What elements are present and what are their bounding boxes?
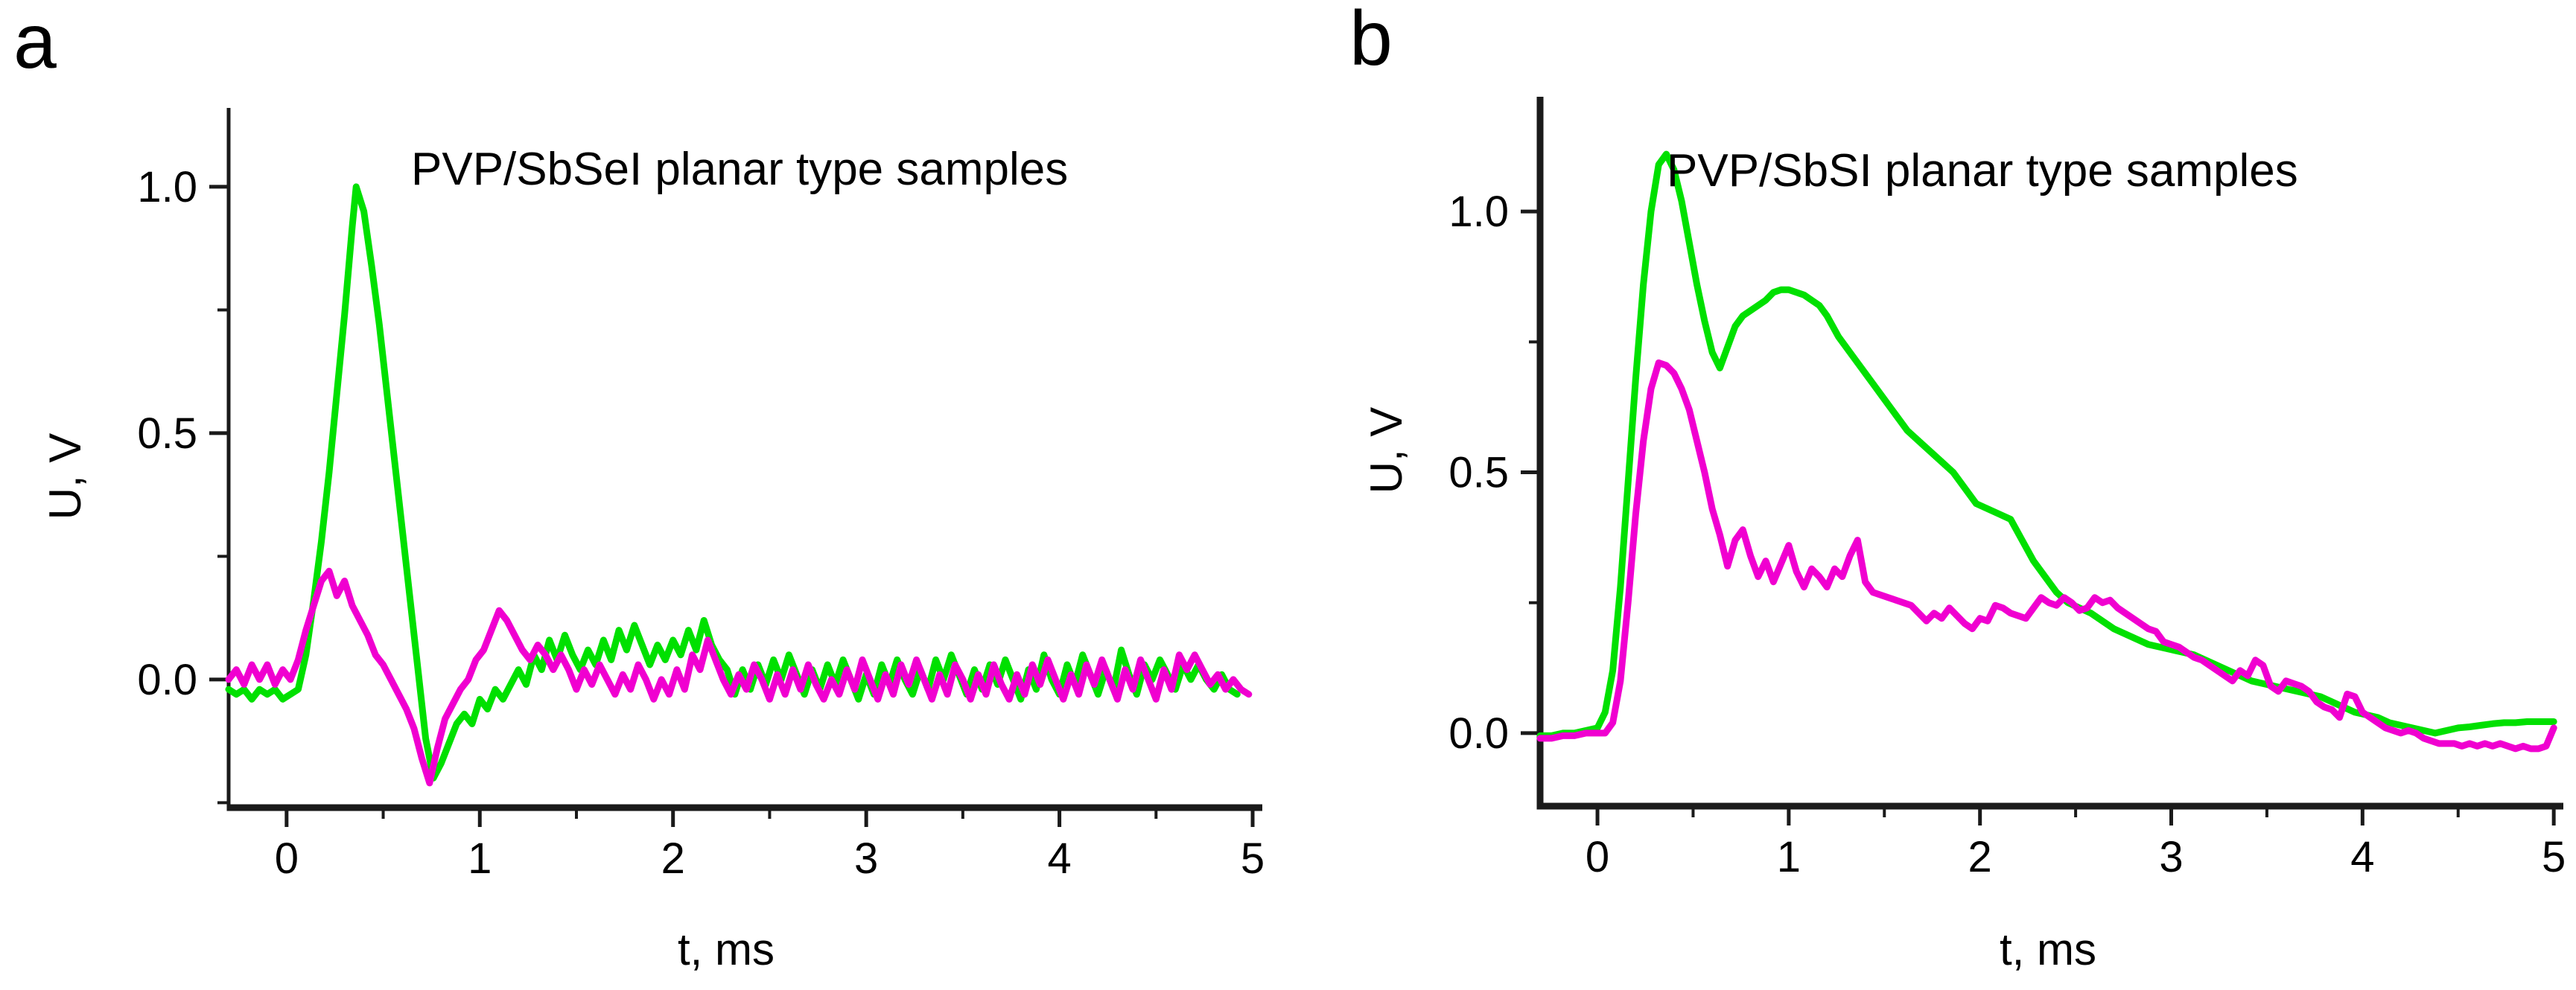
series-line-magenta: [1540, 363, 2554, 749]
x-tick-label: 3: [854, 834, 878, 883]
x-tick-label: 4: [2350, 833, 2374, 881]
x-tick-label: 2: [1968, 833, 1992, 881]
panel-a: a 0.00.51.0012345t, msU, VPVP/SbSeI plan…: [0, 0, 1288, 990]
x-tick-label: 1: [468, 834, 492, 883]
x-tick-label: 2: [661, 834, 685, 883]
x-tick-label: 5: [1241, 834, 1265, 883]
y-tick-label: 1.0: [137, 163, 197, 211]
x-tick-label: 0: [1586, 833, 1609, 881]
plot-annotation: PVP/SbSI planar type samples: [1667, 145, 2298, 197]
y-tick-label: 0.5: [1448, 449, 1509, 497]
y-tick-label: 0.0: [137, 656, 197, 704]
y-tick-label: 0.0: [1448, 709, 1509, 758]
plot-annotation: PVP/SbSeI planar type samples: [411, 144, 1068, 195]
y-tick-label: 0.5: [137, 409, 197, 458]
series-line-green: [1540, 154, 2554, 735]
x-tick-label: 0: [275, 834, 299, 883]
x-tick-label: 3: [2159, 833, 2183, 881]
x-axis-title: t, ms: [2000, 924, 2096, 974]
x-axis-title: t, ms: [678, 924, 775, 974]
y-axis-title: U, V: [1361, 407, 1411, 494]
x-tick-label: 5: [2542, 833, 2566, 881]
panel-b: b 0.00.51.0012345t, msU, VPVP/SbSI plana…: [1288, 0, 2576, 990]
x-tick-label: 1: [1777, 833, 1801, 881]
y-tick-label: 1.0: [1448, 188, 1509, 236]
series-line-magenta: [229, 571, 1249, 783]
panel-a-plot: 0.00.51.0012345t, msU, VPVP/SbSeI planar…: [0, 0, 1288, 990]
figure-root: a 0.00.51.0012345t, msU, VPVP/SbSeI plan…: [0, 0, 2576, 990]
panel-b-plot: 0.00.51.0012345t, msU, VPVP/SbSI planar …: [1288, 0, 2576, 990]
x-tick-label: 4: [1047, 834, 1071, 883]
y-axis-title: U, V: [40, 433, 90, 520]
